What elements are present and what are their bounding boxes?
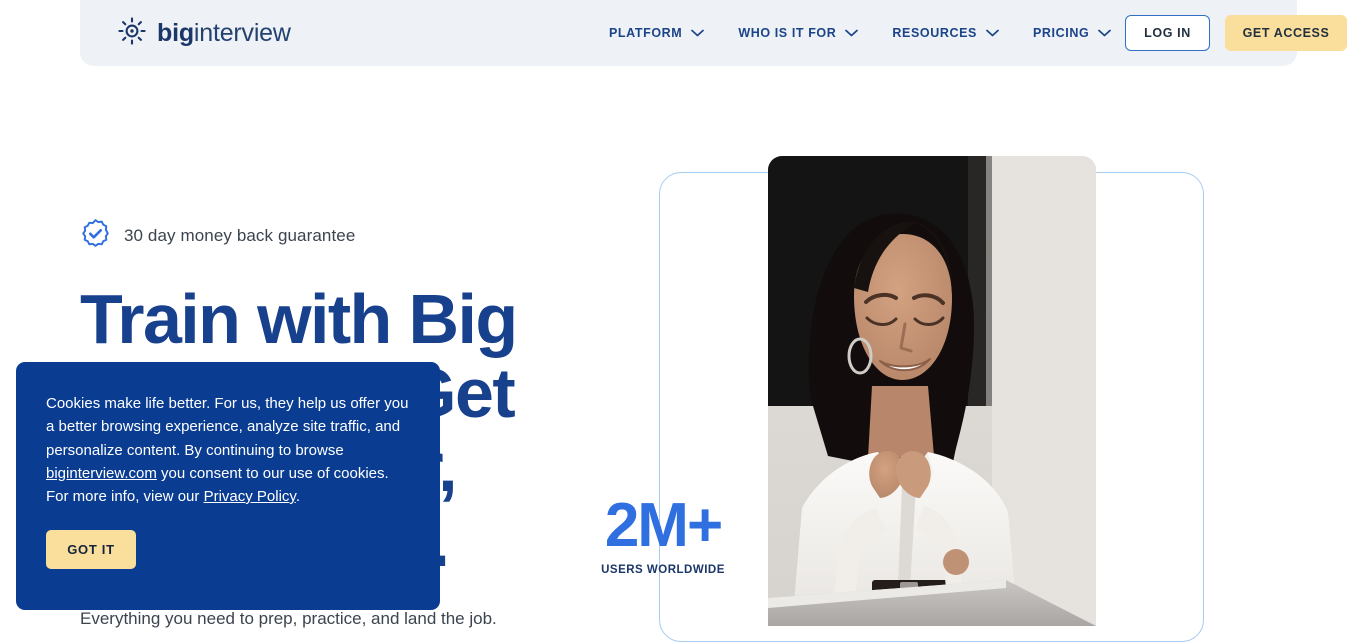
nav-item-label: WHO IS IT FOR [738, 26, 836, 40]
sun-icon [116, 15, 148, 52]
main-navigation: PLATFORM WHO IS IT FOR RESOURCES PRICING [609, 0, 1111, 66]
cookie-consent-banner: Cookies make life better. For us, they h… [16, 362, 440, 610]
stat-label: USERS WORLDWIDE [592, 564, 734, 576]
nav-item-resources[interactable]: RESOURCES [892, 26, 999, 40]
privacy-policy-link[interactable]: Privacy Policy [204, 488, 296, 505]
guarantee-label: 30 day money back guarantee [124, 226, 355, 246]
nav-item-label: PRICING [1033, 26, 1089, 40]
site-header: biginterview PLATFORM WHO IS IT FOR RESO… [80, 0, 1297, 66]
logo-text: biginterview [157, 21, 291, 46]
chevron-down-icon [845, 26, 858, 40]
cookie-text-part-3: . [296, 488, 300, 505]
nav-item-pricing[interactable]: PRICING [1033, 26, 1111, 40]
nav-item-label: PLATFORM [609, 26, 682, 40]
nav-item-platform[interactable]: PLATFORM [609, 26, 704, 40]
logo-text-regular: interview [194, 19, 291, 47]
logo[interactable]: biginterview [116, 15, 291, 52]
biginterview-link[interactable]: biginterview.com [46, 465, 157, 482]
header-actions: LOG IN GET ACCESS [1125, 0, 1347, 66]
nav-item-label: RESOURCES [892, 26, 977, 40]
cookie-text-part-1: Cookies make life better. For us, they h… [46, 395, 408, 459]
get-access-button[interactable]: GET ACCESS [1225, 15, 1347, 51]
chevron-down-icon [986, 26, 999, 40]
chevron-down-icon [691, 26, 704, 40]
logo-text-bold: big [157, 19, 194, 47]
users-stat: 2M+ USERS WORLDWIDE [592, 497, 734, 576]
nav-item-who-is-it-for[interactable]: WHO IS IT FOR [738, 26, 858, 40]
log-in-button[interactable]: LOG IN [1125, 15, 1210, 51]
verified-check-badge-icon [80, 218, 111, 254]
stat-value: 2M+ [592, 497, 734, 556]
interview-practice-video[interactable] [768, 156, 1096, 626]
chevron-down-icon [1098, 26, 1111, 40]
got-it-button[interactable]: GOT IT [46, 530, 136, 569]
money-back-guarantee: 30 day money back guarantee [80, 218, 600, 254]
cookie-banner-text: Cookies make life better. For us, they h… [46, 392, 410, 508]
